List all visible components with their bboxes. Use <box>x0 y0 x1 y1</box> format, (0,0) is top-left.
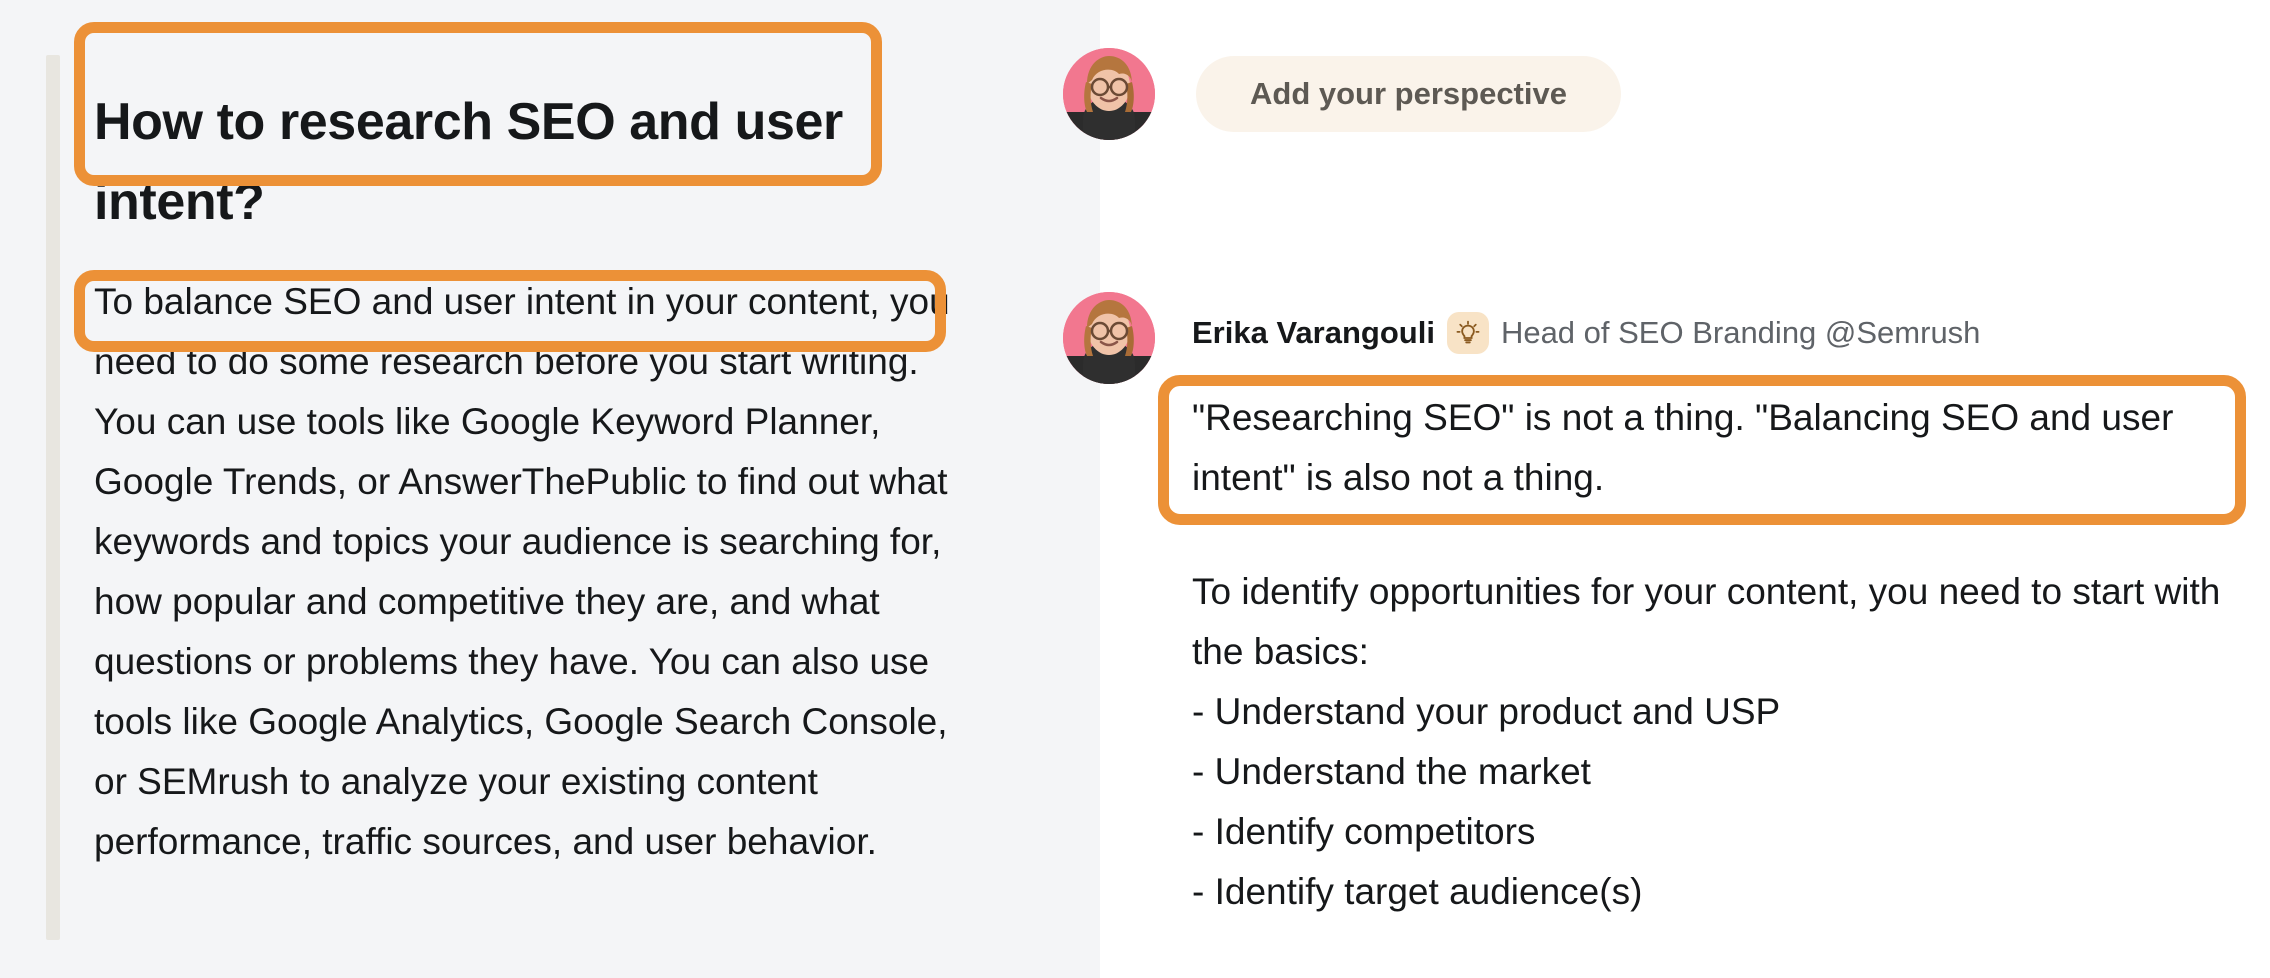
avatar <box>1063 48 1155 140</box>
contributor-title: Head of SEO Branding @Semrush <box>1501 315 1981 351</box>
contribution-quote: "Researching SEO" is not a thing. "Balan… <box>1192 388 2222 508</box>
list-item: - Understand your product and USP <box>1192 682 2232 742</box>
add-your-perspective-button[interactable]: Add your perspective <box>1196 56 1621 132</box>
contributor-byline: Erika Varangouli Head of SEO Branding @S… <box>1192 312 1980 354</box>
contribution-bullet-list: - Understand your product and USP - Unde… <box>1192 682 2232 922</box>
article-accent-bar <box>46 55 60 940</box>
user-avatar-icon <box>1063 48 1155 140</box>
contributor-name[interactable]: Erika Varangouli <box>1192 315 1435 351</box>
article-panel: How to research SEO and user intent? To … <box>0 0 1100 978</box>
page-title: How to research SEO and user intent? <box>94 82 924 242</box>
user-avatar-icon <box>1063 292 1155 384</box>
list-item: - Understand the market <box>1192 742 2232 802</box>
screenshot-root: How to research SEO and user intent? To … <box>0 0 2270 978</box>
lightbulb-icon <box>1447 312 1489 354</box>
contribution-body: To identify opportunities for your conte… <box>1192 562 2232 922</box>
article-body-text: To balance SEO and user intent in your c… <box>94 272 964 872</box>
list-item: - Identify competitors <box>1192 802 2232 862</box>
list-item: - Identify target audience(s) <box>1192 862 2232 922</box>
contribution-intro: To identify opportunities for your conte… <box>1192 562 2232 682</box>
avatar <box>1063 292 1155 384</box>
